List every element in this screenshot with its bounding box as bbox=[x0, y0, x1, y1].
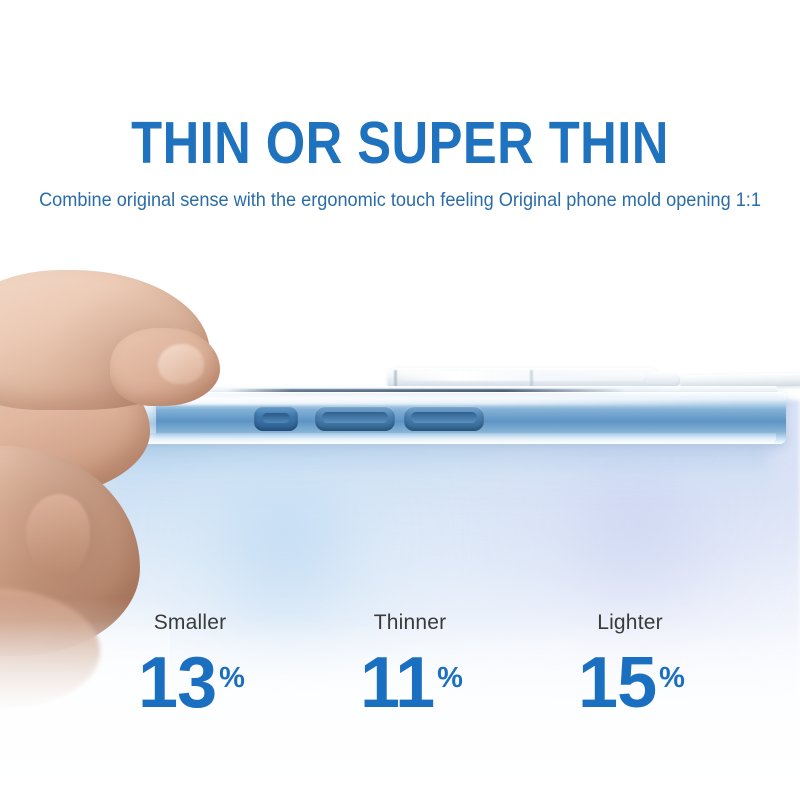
stat-smaller: Smaller 13% bbox=[100, 612, 280, 719]
magsafe-face bbox=[400, 371, 646, 381]
stat-unit: % bbox=[659, 662, 685, 694]
page-title: THIN OR SUPER THIN bbox=[56, 114, 744, 173]
stat-label: Smaller bbox=[100, 612, 280, 633]
stat-label: Thinner bbox=[320, 612, 500, 633]
volume-up-slot bbox=[322, 412, 388, 423]
stat-unit: % bbox=[219, 662, 245, 694]
stats-row: Smaller 13% Thinner 11% Lighter 15% bbox=[100, 612, 720, 719]
hand-holding-phone bbox=[0, 258, 260, 658]
index-fingernail bbox=[158, 344, 204, 384]
stat-label: Lighter bbox=[540, 612, 720, 633]
stat-number: 11 bbox=[360, 643, 434, 723]
page-subtitle: Combine original sense with the ergonomi… bbox=[28, 189, 772, 212]
stat-lighter: Lighter 15% bbox=[540, 612, 720, 719]
stat-value: 11% bbox=[320, 647, 500, 719]
magsafe-cable-neck bbox=[646, 372, 680, 387]
stat-unit: % bbox=[437, 662, 463, 694]
stat-thinner: Thinner 11% bbox=[320, 612, 500, 719]
stat-value: 13% bbox=[100, 647, 280, 719]
stat-number: 13 bbox=[138, 643, 216, 723]
stat-value: 15% bbox=[540, 647, 720, 719]
volume-down-slot bbox=[411, 412, 477, 423]
stat-number: 15 bbox=[578, 643, 656, 723]
product-marketing-poster: THIN OR SUPER THIN Combine original sens… bbox=[0, 0, 800, 800]
mute-switch-slot bbox=[262, 413, 290, 423]
